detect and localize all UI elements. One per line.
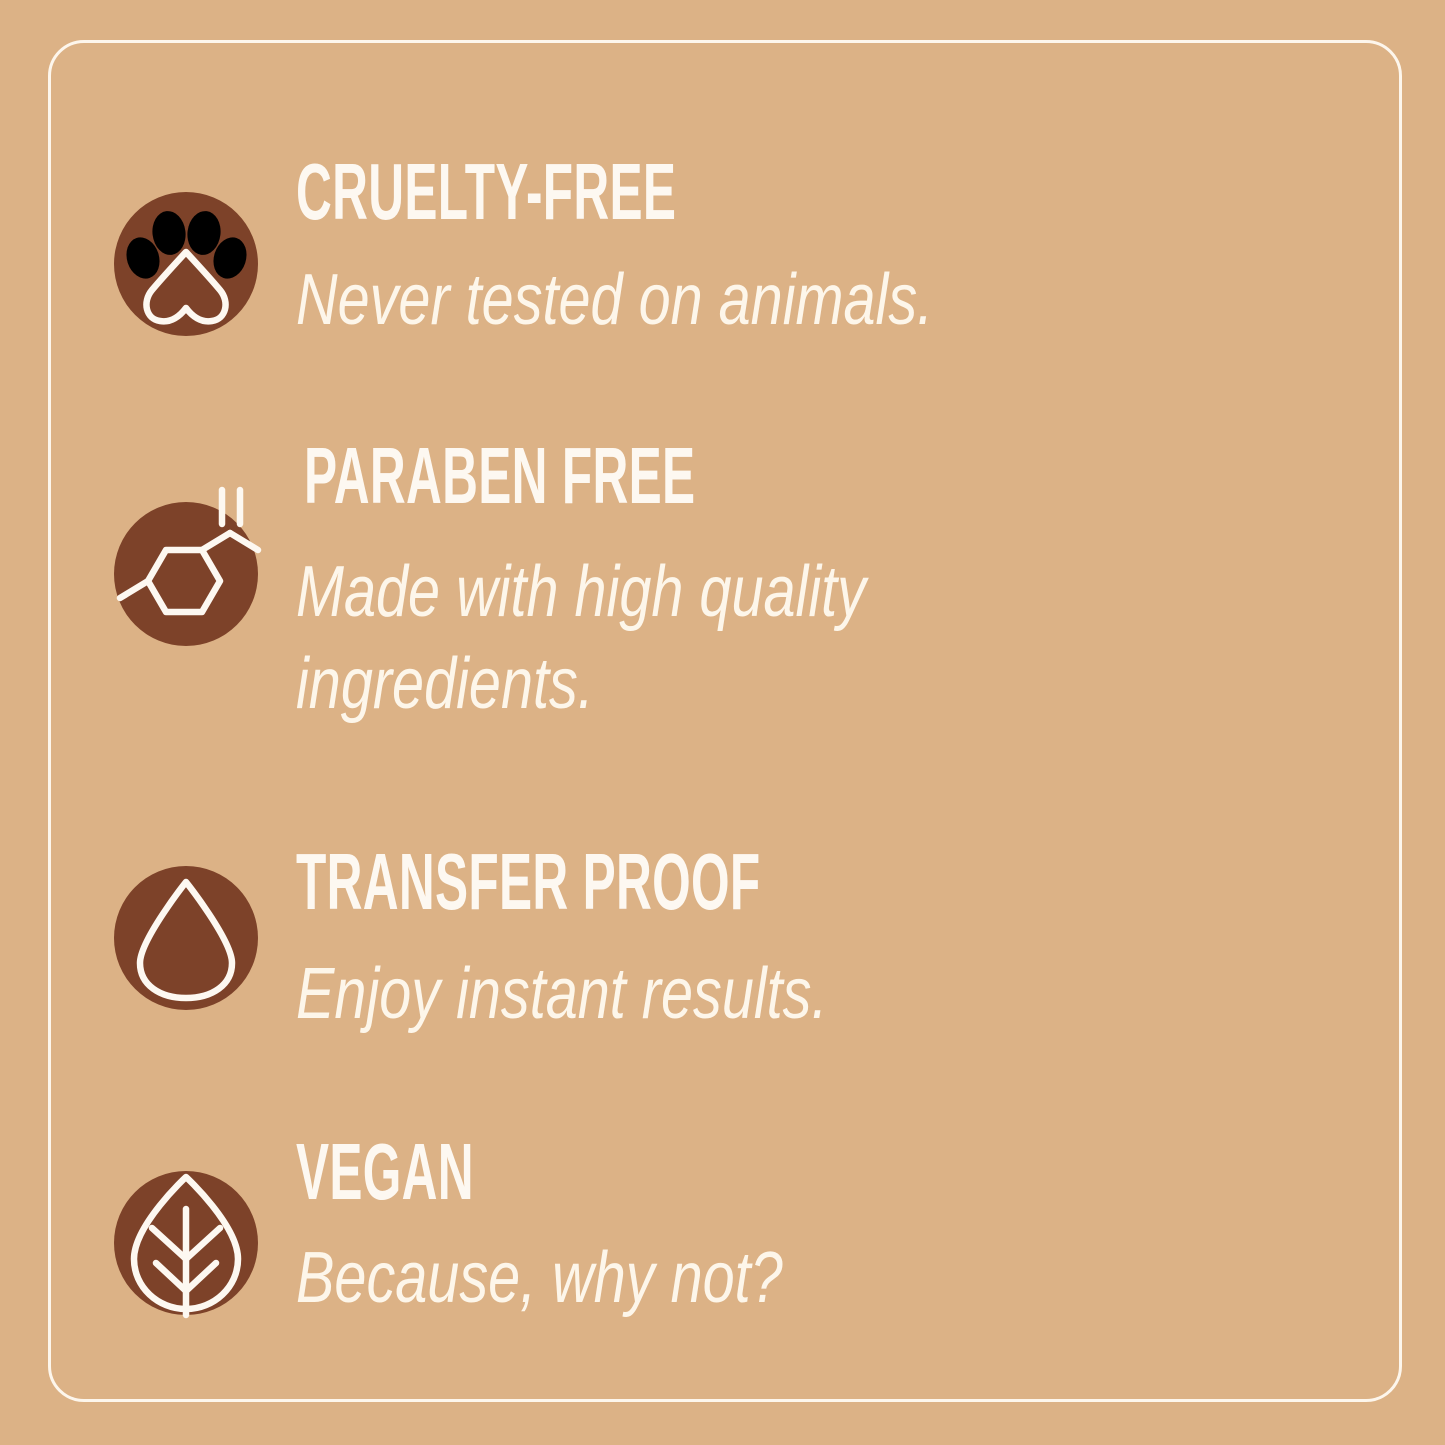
feature-title: CRUELTY-FREE: [296, 150, 953, 234]
feature-copy: TRANSFER PROOF Enjoy instant results.: [296, 840, 1356, 1040]
feature-list: CRUELTY-FREE Never tested on animals. PA…: [0, 0, 1445, 1445]
feature-subtitle: Enjoy instant results.: [296, 948, 1144, 1040]
chemical-molecule-icon: [114, 502, 258, 646]
leaf-icon: [114, 1171, 258, 1315]
feature-title: TRANSFER PROOF: [296, 840, 953, 924]
feature-copy: CRUELTY-FREE Never tested on animals.: [296, 150, 1356, 346]
feature-subtitle: Made with high quality ingredients.: [296, 546, 1144, 730]
water-droplet-icon: [114, 866, 258, 1010]
feature-copy: VEGAN Because, why not?: [296, 1130, 1356, 1324]
feature-subtitle: Never tested on animals.: [296, 254, 1144, 346]
paw-print-icon: [114, 192, 258, 336]
feature-title: VEGAN: [296, 1130, 953, 1214]
feature-title: PARABEN FREE: [296, 434, 953, 518]
feature-copy: PARABEN FREE Made with high quality ingr…: [296, 434, 1356, 730]
feature-subtitle: Because, why not?: [296, 1232, 1144, 1324]
